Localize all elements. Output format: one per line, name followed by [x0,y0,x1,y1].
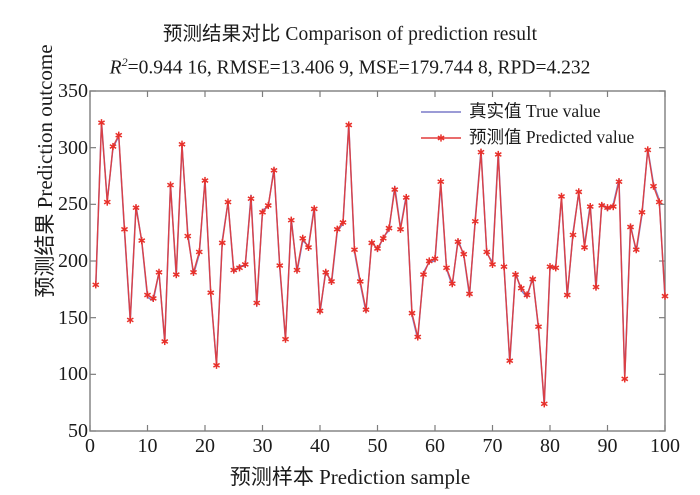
asterisk-marker [196,248,202,255]
asterisk-marker [173,271,179,278]
x-tick-label: 0 [60,436,120,456]
asterisk-marker [409,310,415,317]
asterisk-marker [156,269,162,276]
asterisk-marker [662,293,668,300]
asterisk-marker [501,263,507,270]
x-tick-label: 90 [578,436,638,456]
asterisk-marker [213,362,219,369]
asterisk-marker [127,316,133,323]
asterisk-marker [415,333,421,340]
data-series-group [93,119,668,407]
asterisk-marker [541,400,547,407]
asterisk-marker [248,195,254,202]
x-axis-tick-labels: 0102030405060708090100 [0,436,700,462]
asterisk-marker [570,231,576,238]
x-tick-label: 50 [348,436,408,456]
asterisk-marker [167,181,173,188]
asterisk-marker [144,291,150,298]
legend-label-true-value: 真实值 True value [469,98,700,123]
asterisk-marker [179,141,185,148]
asterisk-marker [225,198,231,205]
x-tick-label: 20 [175,436,235,456]
asterisk-marker [489,261,495,268]
asterisk-marker [317,307,323,314]
asterisk-marker [93,281,99,288]
asterisk-marker [466,290,472,297]
legend-label-wrap: 真实值 True value [469,98,700,124]
asterisk-marker [202,177,208,184]
asterisk-marker [133,204,139,211]
asterisk-marker [139,237,145,244]
asterisk-marker [190,269,196,276]
asterisk-marker [535,323,541,330]
asterisk-marker [403,194,409,201]
asterisk-marker [271,167,277,174]
asterisk-marker [564,291,570,298]
asterisk-marker [397,226,403,233]
asterisk-marker [530,276,536,283]
asterisk-marker [282,336,288,343]
asterisk-marker [162,338,168,345]
asterisk-marker [219,239,225,246]
asterisk-marker [472,218,478,225]
x-axis-label: 预测样本 Prediction sample [0,461,700,491]
legend-label-predicted-value: 预测值 Predicted value [469,124,700,149]
predicted-value-line [96,123,665,404]
asterisk-marker [185,232,191,239]
asterisk-marker [576,188,582,195]
asterisk-marker [420,271,426,278]
asterisk-marker [104,198,110,205]
x-tick-label: 100 [635,436,695,456]
asterisk-marker [633,246,639,253]
asterisk-marker [357,278,363,285]
asterisk-marker [346,121,352,128]
asterisk-marker [392,186,398,193]
asterisk-marker [558,193,564,200]
x-tick-label: 40 [290,436,350,456]
plot-canvas: 真实值 True value预测值 Predicted value [0,0,700,495]
asterisk-marker [311,205,317,212]
asterisk-marker [507,357,513,364]
asterisk-marker [587,203,593,210]
x-tick-label: 80 [520,436,580,456]
asterisk-marker [622,375,628,382]
asterisk-marker [581,244,587,251]
asterisk-marker [363,306,369,313]
predicted-value-markers [93,119,668,407]
y-axis-label: 预测结果 Prediction outcome [29,0,59,371]
asterisk-marker [627,223,633,230]
prediction-comparison-chart: 预测结果对比 Comparison of prediction result R… [0,0,700,495]
asterisk-marker [443,264,449,271]
legend-label-wrap: 预测值 Predicted value [469,124,700,150]
asterisk-marker [294,266,300,273]
asterisk-marker [438,178,444,185]
asterisk-marker [616,178,622,185]
legend: 真实值 True value预测值 Predicted value [421,98,700,150]
asterisk-marker [121,226,127,233]
asterisk-marker [116,132,122,139]
asterisk-marker [484,248,490,255]
asterisk-marker [288,217,294,224]
x-tick-label: 30 [233,436,293,456]
asterisk-marker [150,295,156,302]
asterisk-marker [461,251,467,258]
asterisk-marker [639,209,645,216]
asterisk-marker [208,289,214,296]
x-tick-label: 70 [463,436,523,456]
x-tick-label: 10 [118,436,178,456]
asterisk-marker [254,299,260,306]
asterisk-marker [351,246,357,253]
asterisk-marker [593,283,599,290]
asterisk-marker [277,262,283,269]
x-tick-label: 60 [405,436,465,456]
asterisk-marker [98,119,104,126]
asterisk-marker [495,151,501,158]
